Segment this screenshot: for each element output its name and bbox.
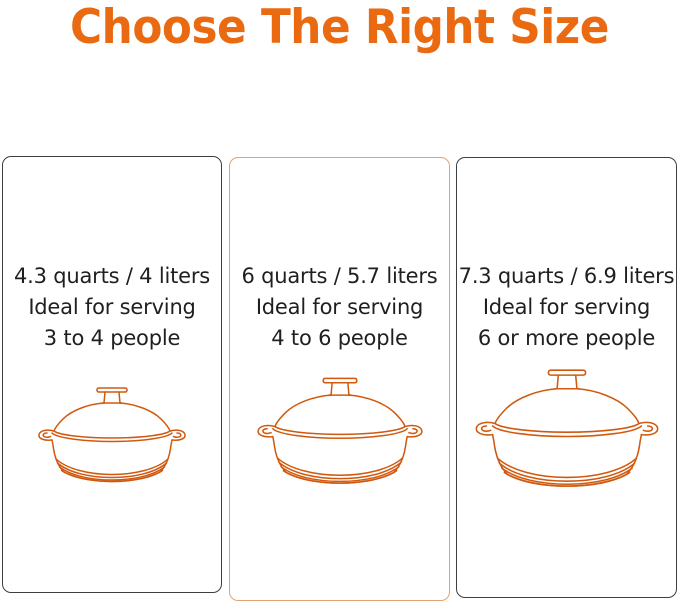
pot-illustration-wrap [457,352,676,488]
serving-label: Ideal for serving [230,292,449,323]
serving-label: Ideal for serving [3,292,221,323]
size-card-small-text: 4.3 quarts / 4 liters Ideal for serving … [3,261,221,354]
size-card-medium[interactable]: 6 quarts / 5.7 liters Ideal for serving … [229,157,450,601]
size-card-medium-text: 6 quarts / 5.7 liters Ideal for serving … [230,261,449,354]
size-guide-page: Choose The Right Size 4.3 quarts / 4 lit… [0,0,679,602]
pot-illustration-wrap [3,363,221,483]
capacity-label: 7.3 quarts / 6.9 liters [457,261,676,292]
size-card-small[interactable]: 4.3 quarts / 4 liters Ideal for serving … [2,156,222,593]
serving-label: Ideal for serving [457,292,676,323]
serving-count-label: 4 to 6 people [230,323,449,354]
pot-illustration-wrap [230,357,449,485]
capacity-label: 4.3 quarts / 4 liters [3,261,221,292]
size-card-large-text: 7.3 quarts / 6.9 liters Ideal for servin… [457,261,676,354]
capacity-label: 6 quarts / 5.7 liters [230,261,449,292]
dutch-oven-pot-icon [464,359,670,488]
size-card-list: 4.3 quarts / 4 liters Ideal for serving … [0,0,679,602]
size-card-large[interactable]: 7.3 quarts / 6.9 liters Ideal for servin… [456,157,677,598]
serving-count-label: 3 to 4 people [3,323,221,354]
serving-count-label: 6 or more people [457,323,676,354]
dutch-oven-pot-icon [247,368,433,485]
dutch-oven-pot-icon [29,379,195,483]
